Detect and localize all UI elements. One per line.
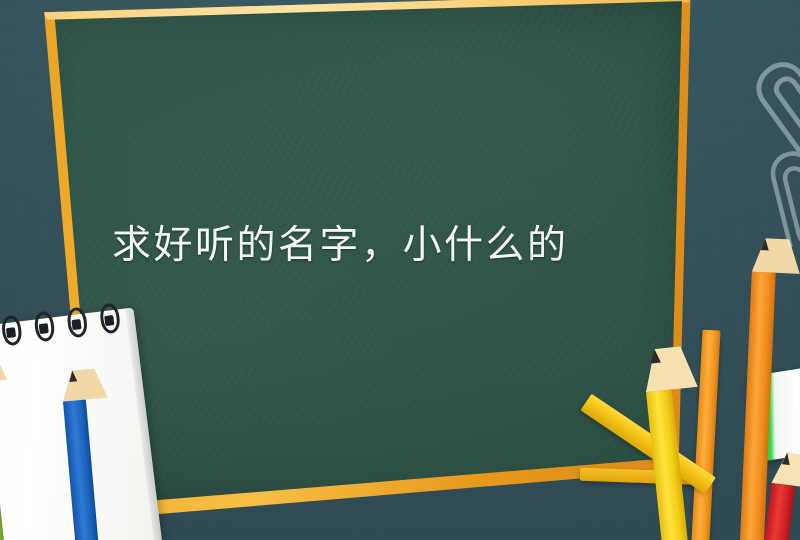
pencil-lead-icon — [761, 238, 770, 250]
pencil-lead-icon — [650, 349, 661, 364]
screenshot-canvas: 求好听的名字，小什么的 — [0, 0, 800, 540]
pencil-lead-icon — [782, 452, 791, 465]
pencil-lead-icon — [68, 370, 77, 382]
page-title: 求好听的名字，小什么的 — [112, 222, 652, 270]
